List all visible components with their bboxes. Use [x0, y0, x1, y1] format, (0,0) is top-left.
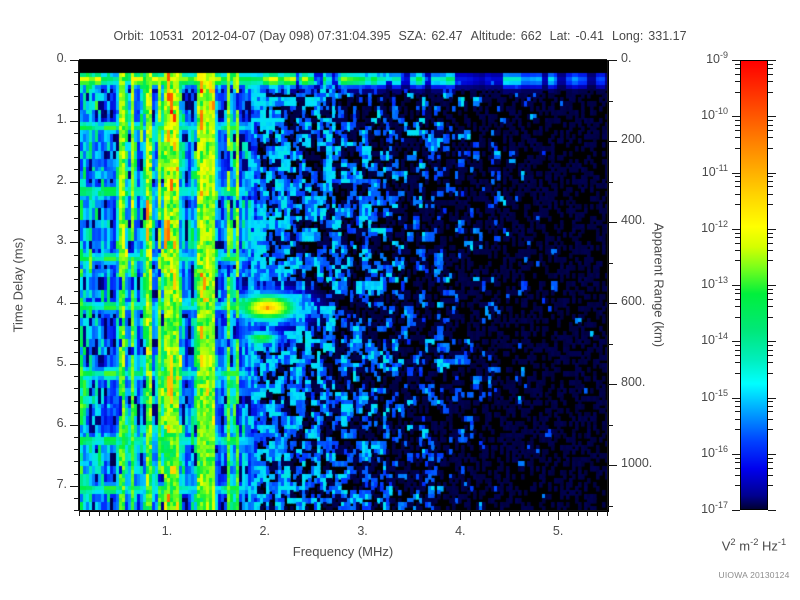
colorbar-minor-tick-left: [735, 373, 740, 374]
y-axis-minor-tick-left: [74, 72, 79, 73]
colorbar-minor-tick-left: [735, 293, 740, 294]
colorbar-minor-tick-left: [735, 458, 740, 459]
x-axis-minor-tick: [441, 511, 442, 516]
credit-label: UIOWA 20130124: [719, 570, 790, 580]
header-field-label: SZA:: [399, 29, 427, 43]
colorbar-minor-tick-left: [735, 411, 740, 412]
x-axis-minor-tick: [157, 511, 158, 516]
x-axis-minor-tick: [206, 511, 207, 516]
y-axis-minor-tick-left: [74, 169, 79, 170]
y-axis-major-tick-right: [608, 141, 617, 142]
x-axis-minor-tick: [411, 511, 412, 516]
y-axis-minor-tick-right: [608, 425, 613, 426]
colorbar-major-tick-left: [732, 116, 740, 117]
x-axis-minor-tick: [304, 511, 305, 516]
header-field-label: Altitude:: [471, 29, 516, 43]
colorbar-minor-tick-right: [768, 243, 773, 244]
colorbar-tick-label: 10-9: [666, 50, 728, 66]
colorbar-minor-tick-right: [768, 293, 773, 294]
x-axis-minor-tick: [196, 511, 197, 516]
colorbar-minor-tick-right: [768, 120, 773, 121]
colorbar-unit-exponent: 2: [730, 537, 735, 547]
x-axis-minor-tick: [451, 511, 452, 516]
x-axis-minor-tick: [392, 511, 393, 516]
colorbar-major-tick-left: [732, 173, 740, 174]
y-axis-title-right: Apparent Range (km): [652, 223, 667, 347]
x-axis-minor-tick: [402, 511, 403, 516]
x-axis-tick-label: 4.: [435, 524, 485, 538]
colorbar-minor-tick-right: [768, 125, 773, 126]
header-field: 2012-04-07 (Day 098) 07:31:04.395: [192, 29, 391, 43]
header-field-label: Lat:: [550, 29, 571, 43]
colorbar-tick-label: 10-15: [666, 388, 728, 404]
colorbar-minor-tick-left: [735, 243, 740, 244]
x-axis-minor-tick: [509, 511, 510, 516]
x-axis-minor-tick: [226, 511, 227, 516]
colorbar-minor-tick-left: [735, 306, 740, 307]
colorbar-minor-tick-left: [735, 194, 740, 195]
colorbar-minor-tick-left: [735, 350, 740, 351]
colorbar-minor-tick-right: [768, 204, 773, 205]
colorbar-tick-label: 10-17: [666, 500, 728, 516]
x-axis-minor-tick: [529, 511, 530, 516]
y-axis-major-tick-right: [608, 465, 617, 466]
colorbar-minor-tick-left: [735, 250, 740, 251]
colorbar-minor-tick-left: [735, 317, 740, 318]
y-axis-minor-tick-left: [74, 474, 79, 475]
colorbar-minor-tick-right: [768, 485, 773, 486]
y-axis-major-tick-left: [70, 182, 79, 183]
colorbar-minor-tick-left: [735, 468, 740, 469]
header-field: SZA:62.47: [399, 29, 463, 43]
y-axis-minor-tick-left: [74, 376, 79, 377]
y-axis-minor-tick-left: [74, 291, 79, 292]
header-field-label: Long:: [612, 29, 643, 43]
colorbar-minor-tick-left: [735, 233, 740, 234]
colorbar-major-tick-left: [732, 341, 740, 342]
colorbar-minor-tick-left: [735, 64, 740, 65]
colorbar-tick-label: 10-13: [666, 275, 728, 291]
colorbar-minor-tick-left: [735, 355, 740, 356]
x-axis-minor-tick: [490, 511, 491, 516]
colorbar-minor-tick-right: [768, 68, 773, 69]
x-axis-minor-tick: [372, 511, 373, 516]
colorbar-minor-tick-right: [768, 468, 773, 469]
y-axis-minor-tick-left: [74, 401, 79, 402]
colorbar-container: [740, 60, 768, 510]
colorbar-minor-tick-left: [735, 260, 740, 261]
x-axis-minor-tick: [147, 511, 148, 516]
y-axis-major-tick-right: [608, 60, 617, 61]
x-axis-minor-tick: [323, 511, 324, 516]
y-axis-tick-label-left: 5.: [27, 355, 67, 369]
x-axis-title: Frequency (MHz): [293, 544, 393, 559]
y-axis-minor-tick-right: [608, 344, 613, 345]
y-axis-minor-tick-left: [74, 230, 79, 231]
x-axis-minor-tick: [470, 511, 471, 516]
colorbar-minor-tick-right: [768, 429, 773, 430]
x-axis-major-tick: [167, 511, 168, 520]
colorbar-minor-tick-left: [735, 81, 740, 82]
x-axis-minor-tick: [284, 511, 285, 516]
x-axis-minor-tick: [343, 511, 344, 516]
y-axis-minor-tick-left: [74, 157, 79, 158]
y-axis-minor-tick-right: [608, 182, 613, 183]
x-axis-minor-tick: [539, 511, 540, 516]
y-axis-tick-label-left: 3.: [27, 233, 67, 247]
colorbar-minor-tick-right: [768, 64, 773, 65]
colorbar-minor-tick-left: [735, 419, 740, 420]
x-axis-minor-tick: [499, 511, 500, 516]
x-axis-minor-tick: [568, 511, 569, 516]
colorbar-minor-tick-right: [768, 317, 773, 318]
y-axis-tick-label-left: 1.: [27, 112, 67, 126]
colorbar-minor-tick-left: [735, 485, 740, 486]
colorbar-minor-tick-right: [768, 260, 773, 261]
colorbar-minor-tick-left: [735, 130, 740, 131]
y-axis-minor-tick-left: [74, 461, 79, 462]
header-field: Lat:-0.41: [550, 29, 604, 43]
colorbar-minor-tick-right: [768, 148, 773, 149]
x-axis-minor-tick: [353, 511, 354, 516]
x-axis-minor-tick: [138, 511, 139, 516]
spectrogram-plot-area: [79, 60, 609, 512]
colorbar-minor-tick-right: [768, 299, 773, 300]
colorbar-minor-tick-left: [735, 345, 740, 346]
header-field: Orbit:10531: [113, 29, 183, 43]
colorbar-tick-label: 10-12: [666, 219, 728, 235]
colorbar-minor-tick-left: [735, 237, 740, 238]
y-axis-major-tick-left: [70, 121, 79, 122]
y-axis-title-left: Time Delay (ms): [11, 238, 26, 333]
x-axis-minor-tick: [294, 511, 295, 516]
y-axis-minor-tick-right: [608, 101, 613, 102]
colorbar-minor-tick-right: [768, 362, 773, 363]
y-axis-minor-tick-left: [74, 133, 79, 134]
x-axis-minor-tick: [99, 511, 100, 516]
colorbar-minor-tick-right: [768, 81, 773, 82]
x-axis-minor-tick: [421, 511, 422, 516]
colorbar-tick-label: 10-10: [666, 106, 728, 122]
header-field-value: 331.17: [648, 29, 686, 43]
y-axis-major-tick-right: [608, 384, 617, 385]
y-axis-minor-tick-left: [74, 109, 79, 110]
x-axis-minor-tick: [519, 511, 520, 516]
x-axis-minor-tick: [607, 511, 608, 516]
x-axis-minor-tick: [597, 511, 598, 516]
header-field-label: Orbit:: [113, 29, 144, 43]
colorbar-minor-tick-right: [768, 194, 773, 195]
colorbar-major-tick-right: [768, 510, 776, 511]
x-axis-minor-tick: [480, 511, 481, 516]
y-axis-major-tick-left: [70, 425, 79, 426]
colorbar-minor-tick-left: [735, 299, 740, 300]
colorbar-major-tick-right: [768, 60, 776, 61]
x-axis-minor-tick: [79, 511, 80, 516]
y-axis-tick-label-left: 6.: [27, 416, 67, 430]
x-axis-major-tick: [460, 511, 461, 520]
colorbar-minor-tick-right: [768, 401, 773, 402]
y-axis-minor-tick-left: [74, 145, 79, 146]
colorbar-gradient: [740, 60, 768, 510]
header-field-value: -0.41: [576, 29, 605, 43]
x-axis-minor-tick: [431, 511, 432, 516]
y-axis-minor-tick-left: [74, 315, 79, 316]
colorbar-unit-exponent: -2: [750, 537, 758, 547]
x-axis-minor-tick: [382, 511, 383, 516]
y-axis-minor-tick-left: [74, 194, 79, 195]
colorbar-minor-tick-right: [768, 475, 773, 476]
axis-line-left: [78, 60, 79, 510]
colorbar-minor-tick-right: [768, 419, 773, 420]
header-field: Long:331.17: [612, 29, 687, 43]
colorbar-unit-base: Hz: [762, 538, 778, 553]
y-axis-major-tick-right: [608, 303, 617, 304]
colorbar-tick-label: 10-11: [666, 163, 728, 179]
colorbar-minor-tick-right: [768, 458, 773, 459]
x-axis-minor-tick: [587, 511, 588, 516]
colorbar-minor-tick-right: [768, 250, 773, 251]
y-axis-tick-label-left: 2.: [27, 173, 67, 187]
colorbar-major-tick-left: [732, 454, 740, 455]
header-field-value: 62.47: [431, 29, 462, 43]
colorbar-minor-tick-left: [735, 68, 740, 69]
y-axis-minor-tick-right: [608, 263, 613, 264]
colorbar-minor-tick-left: [735, 462, 740, 463]
y-axis-minor-tick-left: [74, 449, 79, 450]
colorbar-major-tick-right: [768, 285, 776, 286]
colorbar-minor-tick-right: [768, 306, 773, 307]
y-axis-minor-tick-left: [74, 279, 79, 280]
header-field-value: 2012-04-07 (Day 098) 07:31:04.395: [192, 29, 391, 43]
y-axis-major-tick-left: [70, 486, 79, 487]
y-axis-minor-tick-left: [74, 437, 79, 438]
colorbar-tick-label: 10-14: [666, 331, 728, 347]
colorbar-units-label: V2 m-2 Hz-1: [722, 537, 786, 553]
colorbar-minor-tick-left: [735, 137, 740, 138]
colorbar-minor-tick-right: [768, 233, 773, 234]
x-axis-minor-tick: [314, 511, 315, 516]
colorbar-minor-tick-left: [735, 181, 740, 182]
y-axis-minor-tick-left: [74, 255, 79, 256]
colorbar-major-tick-left: [732, 229, 740, 230]
colorbar-minor-tick-right: [768, 411, 773, 412]
colorbar-minor-tick-left: [735, 92, 740, 93]
x-axis-tick-label: 3.: [338, 524, 388, 538]
y-axis-major-tick-right: [608, 222, 617, 223]
x-axis-minor-tick: [548, 511, 549, 516]
x-axis-minor-tick: [255, 511, 256, 516]
x-axis-minor-tick: [333, 511, 334, 516]
colorbar-tick-label: 10-16: [666, 444, 728, 460]
colorbar-major-tick-left: [732, 398, 740, 399]
colorbar-minor-tick-right: [768, 137, 773, 138]
header-field: Altitude:662: [471, 29, 542, 43]
colorbar-major-tick-right: [768, 398, 776, 399]
colorbar-major-tick-right: [768, 341, 776, 342]
colorbar-minor-tick-right: [768, 237, 773, 238]
colorbar-major-tick-left: [732, 60, 740, 61]
header-metadata-line: Orbit:105312012-04-07 (Day 098) 07:31:04…: [0, 29, 800, 43]
colorbar-minor-tick-left: [735, 362, 740, 363]
y-axis-minor-tick-left: [74, 84, 79, 85]
y-axis-tick-label-left: 0.: [27, 51, 67, 65]
x-axis-minor-tick: [235, 511, 236, 516]
y-axis-minor-tick-left: [74, 352, 79, 353]
colorbar-minor-tick-right: [768, 345, 773, 346]
x-axis-minor-tick: [118, 511, 119, 516]
header-field-value: 662: [521, 29, 542, 43]
x-axis-tick-label: 5.: [533, 524, 583, 538]
y-axis-minor-tick-right: [608, 506, 613, 507]
y-axis-minor-tick-left: [74, 218, 79, 219]
x-axis-minor-tick: [216, 511, 217, 516]
y-axis-minor-tick-left: [74, 206, 79, 207]
colorbar-minor-tick-left: [735, 289, 740, 290]
y-axis-tick-label-right: 200.: [621, 132, 681, 146]
x-axis-minor-tick: [275, 511, 276, 516]
y-axis-minor-tick-left: [74, 413, 79, 414]
colorbar-minor-tick-right: [768, 130, 773, 131]
colorbar-minor-tick-left: [735, 401, 740, 402]
colorbar-minor-tick-right: [768, 462, 773, 463]
y-axis-minor-tick-left: [74, 96, 79, 97]
colorbar-minor-tick-right: [768, 289, 773, 290]
x-axis-minor-tick: [128, 511, 129, 516]
colorbar-minor-tick-left: [735, 475, 740, 476]
colorbar-major-tick-right: [768, 116, 776, 117]
y-axis-minor-tick-left: [74, 340, 79, 341]
x-axis-minor-tick: [578, 511, 579, 516]
header-field-value: 10531: [149, 29, 184, 43]
colorbar-minor-tick-left: [735, 186, 740, 187]
colorbar-minor-tick-left: [735, 148, 740, 149]
colorbar-minor-tick-right: [768, 355, 773, 356]
colorbar-minor-tick-left: [735, 120, 740, 121]
colorbar-minor-tick-left: [735, 74, 740, 75]
y-axis-major-tick-left: [70, 303, 79, 304]
colorbar-minor-tick-left: [735, 176, 740, 177]
x-axis-minor-tick: [245, 511, 246, 516]
colorbar-minor-tick-left: [735, 429, 740, 430]
colorbar-minor-tick-right: [768, 373, 773, 374]
axis-line-right: [607, 60, 608, 510]
y-axis-minor-tick-left: [74, 388, 79, 389]
x-axis-minor-tick: [89, 511, 90, 516]
x-axis-minor-tick: [187, 511, 188, 516]
colorbar-minor-tick-right: [768, 406, 773, 407]
x-axis-minor-tick: [177, 511, 178, 516]
colorbar-major-tick-right: [768, 454, 776, 455]
x-axis-tick-label: 2.: [240, 524, 290, 538]
colorbar-major-tick-left: [732, 510, 740, 511]
colorbar-unit-exponent: -1: [778, 537, 786, 547]
y-axis-major-tick-left: [70, 364, 79, 365]
colorbar-major-tick-right: [768, 173, 776, 174]
x-axis-tick-label: 1.: [142, 524, 192, 538]
y-axis-major-tick-left: [70, 60, 79, 61]
colorbar-unit-base: m: [739, 538, 750, 553]
colorbar-minor-tick-right: [768, 92, 773, 93]
colorbar-unit-base: V: [722, 538, 731, 553]
x-axis-minor-tick: [108, 511, 109, 516]
y-axis-tick-label-left: 4.: [27, 294, 67, 308]
colorbar-major-tick-left: [732, 285, 740, 286]
colorbar-major-tick-right: [768, 229, 776, 230]
x-axis-major-tick: [558, 511, 559, 520]
colorbar-minor-tick-right: [768, 350, 773, 351]
y-axis-minor-tick-left: [74, 498, 79, 499]
y-axis-tick-label-left: 7.: [27, 477, 67, 491]
colorbar-minor-tick-left: [735, 204, 740, 205]
x-axis-major-tick: [265, 511, 266, 520]
axis-line-top: [79, 59, 607, 60]
colorbar-minor-tick-left: [735, 406, 740, 407]
y-axis-major-tick-left: [70, 242, 79, 243]
colorbar-minor-tick-right: [768, 186, 773, 187]
spectrogram-canvas: [80, 61, 608, 511]
colorbar-minor-tick-right: [768, 181, 773, 182]
y-axis-minor-tick-left: [74, 267, 79, 268]
colorbar-minor-tick-right: [768, 176, 773, 177]
x-axis-major-tick: [363, 511, 364, 520]
colorbar-minor-tick-left: [735, 125, 740, 126]
colorbar-minor-tick-right: [768, 74, 773, 75]
y-axis-minor-tick-left: [74, 328, 79, 329]
